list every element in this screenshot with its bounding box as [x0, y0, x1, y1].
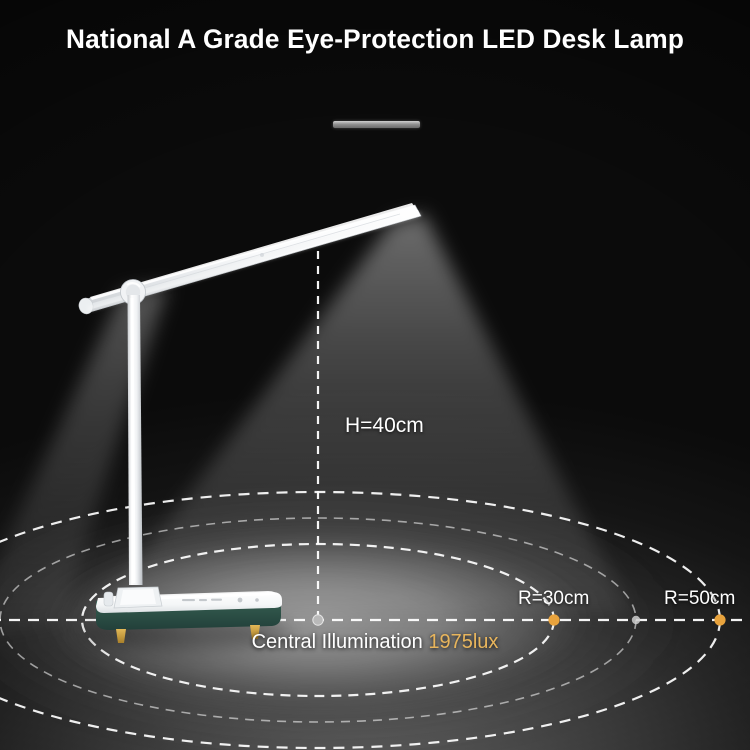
outer-radius-label: R=50cm	[664, 588, 735, 610]
illumination-value: 1975lux	[428, 631, 498, 653]
illumination-prefix: Central Illumination	[252, 631, 423, 653]
marker-mid	[632, 616, 640, 624]
height-label: H=40cm	[345, 414, 424, 438]
inner-radius-label: R=30cm	[518, 588, 589, 610]
page-title: National A Grade Eye-Protection LED Desk…	[11, 24, 739, 55]
central-illumination-label: Central Illumination 1975lux	[0, 631, 750, 654]
center-point-marker	[313, 615, 323, 625]
lamp-arm	[128, 295, 143, 585]
reference-scale-bar	[333, 121, 420, 128]
marker-r50	[714, 614, 725, 625]
marker-r30	[548, 614, 559, 625]
product-illustration: National A Grade Eye-Protection LED Desk…	[0, 0, 750, 750]
